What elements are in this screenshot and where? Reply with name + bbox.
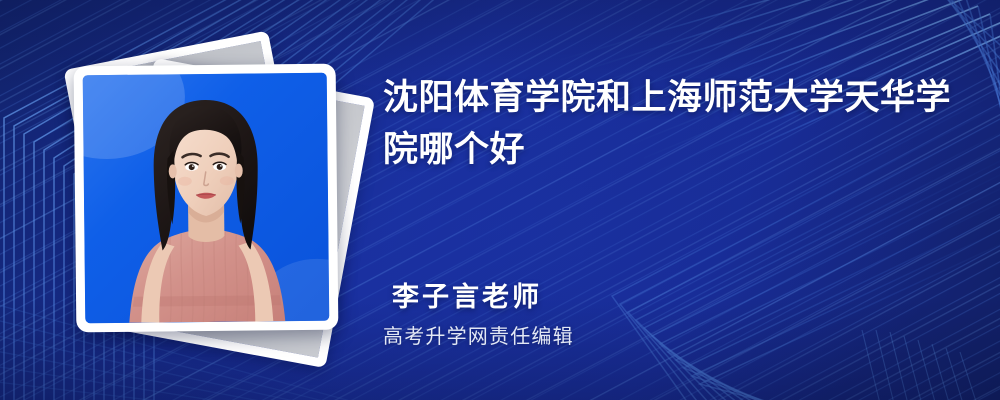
author-photo-card	[74, 64, 339, 333]
banner-text-column: 沈阳体育学院和上海师范大学天华学院哪个好 李子言老师 高考升学网责任编辑	[383, 0, 963, 400]
page-title: 沈阳体育学院和上海师范大学天华学院哪个好	[383, 72, 955, 176]
author-role: 高考升学网责任编辑	[383, 320, 574, 349]
author-name: 李子言老师	[392, 275, 542, 314]
author-photo-stack	[58, 40, 358, 360]
author-portrait-image	[83, 73, 330, 324]
author-photo-frame	[83, 73, 330, 324]
article-header-banner: 沈阳体育学院和上海师范大学天华学院哪个好 李子言老师 高考升学网责任编辑	[0, 0, 1000, 400]
